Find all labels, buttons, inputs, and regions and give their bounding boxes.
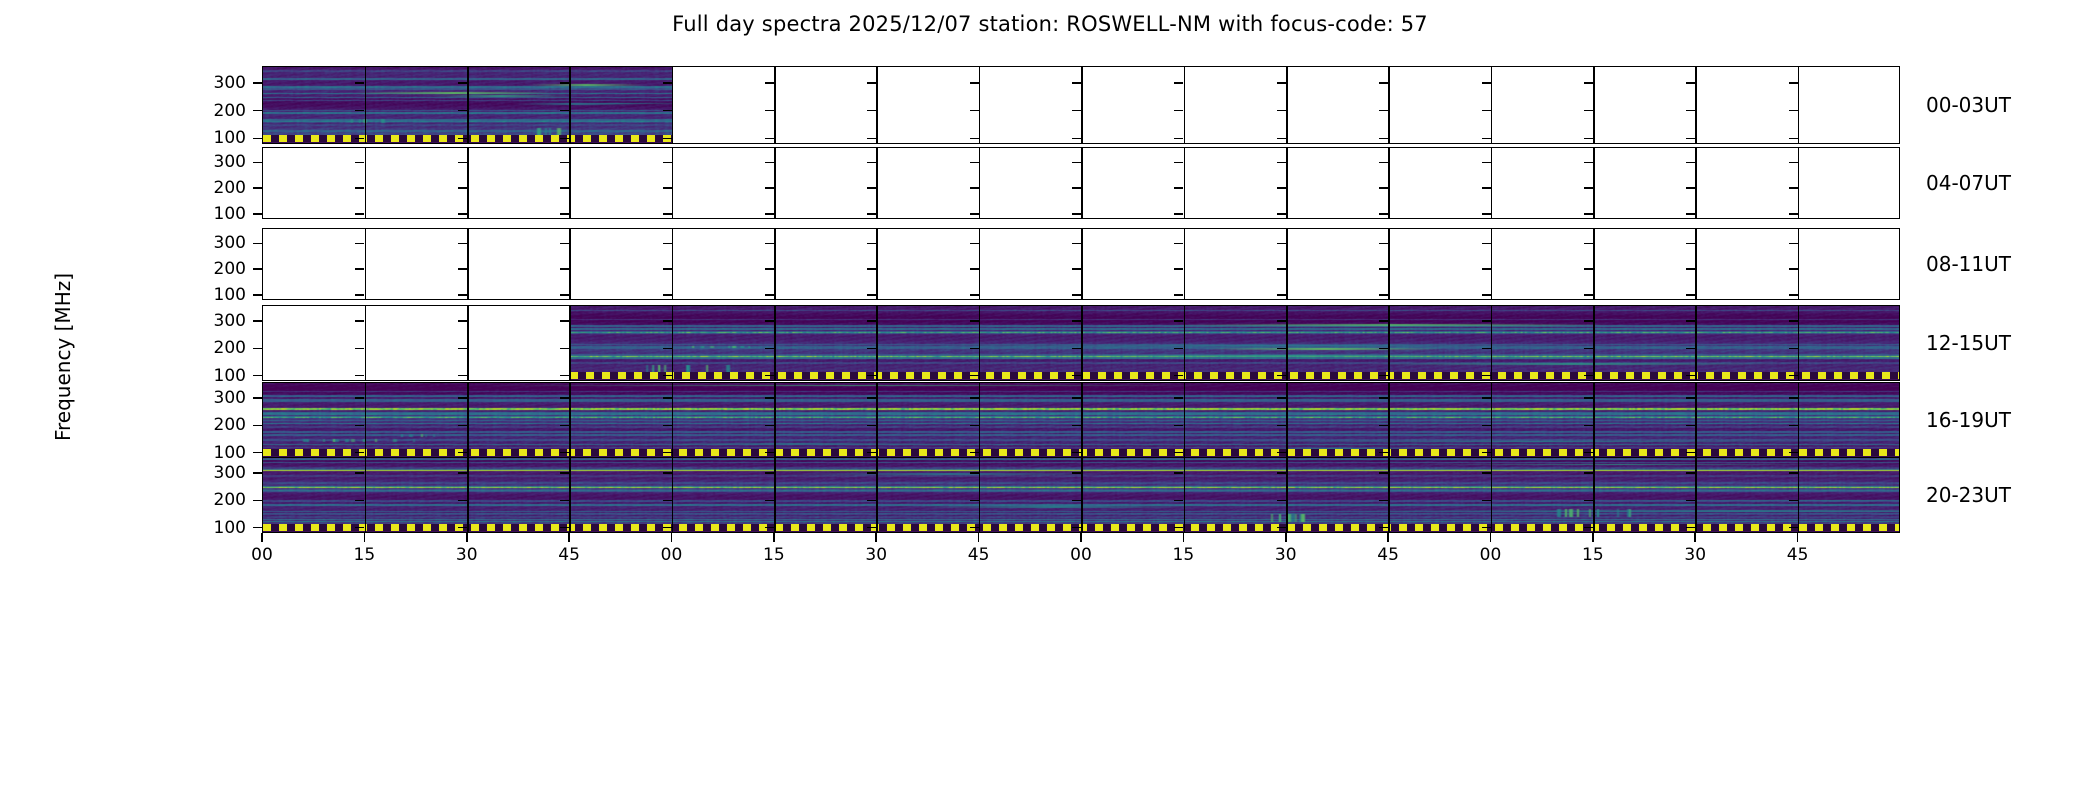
panel-separator [1286, 306, 1288, 380]
spectrogram-image [570, 306, 1900, 379]
y-tick-mark-inner [1174, 527, 1183, 529]
x-tick-mark [978, 533, 980, 542]
y-tick-mark-inner [663, 500, 672, 502]
y-tick-mark [253, 138, 262, 140]
y-tick-mark-inner [1584, 243, 1593, 245]
y-tick-mark-inner [1686, 375, 1695, 377]
y-tick-mark-inner [1789, 138, 1798, 140]
y-tick-mark-inner [1072, 110, 1081, 112]
panel-separator [1286, 148, 1288, 218]
row-time-label: 20-23UT [1926, 483, 2011, 507]
panel-separator [1695, 458, 1697, 532]
y-tick-mark-inner [1789, 472, 1798, 474]
y-tick-mark-inner [867, 375, 876, 377]
panel-separator [1388, 306, 1390, 380]
y-tick-mark [253, 110, 262, 112]
y-tick-mark-inner [560, 527, 569, 529]
y-tick-mark-inner [765, 82, 774, 84]
y-tick-mark-inner [560, 375, 569, 377]
y-tick-mark-inner [663, 472, 672, 474]
panel-separator [774, 148, 776, 218]
y-tick-mark-inner [1277, 138, 1286, 140]
y-tick-mark-inner [1789, 397, 1798, 399]
panel-separator [876, 306, 878, 380]
y-tick-mark-inner [1379, 472, 1388, 474]
y-tick-mark-inner [970, 348, 979, 350]
y-tick-mark-inner [867, 162, 876, 164]
y-tick-mark-inner [1584, 375, 1593, 377]
y-tick-mark-inner [1686, 397, 1695, 399]
y-tick-mark-inner [1379, 500, 1388, 502]
row-time-label: 04-07UT [1926, 171, 2011, 195]
panel-separator [365, 458, 367, 532]
panel-separator [774, 383, 776, 457]
panel-separator [365, 383, 367, 457]
y-tick-mark-inner [1379, 397, 1388, 399]
y-tick-mark-inner [970, 472, 979, 474]
y-tick-mark-inner [1482, 294, 1491, 296]
y-tick-mark-inner [560, 348, 569, 350]
panel-separator [1286, 383, 1288, 457]
x-tick-mark [364, 533, 366, 542]
y-tick-mark-inner [765, 472, 774, 474]
y-tick-mark-inner [1072, 162, 1081, 164]
y-tick-mark-inner [1174, 162, 1183, 164]
y-tick-mark-inner [1277, 375, 1286, 377]
panel-separator [1695, 306, 1697, 380]
y-tick-mark-inner [867, 82, 876, 84]
y-tick-mark-inner [867, 320, 876, 322]
panel-separator [1286, 229, 1288, 299]
panel-separator [1695, 67, 1697, 143]
y-tick-mark-inner [1379, 110, 1388, 112]
panel-separator [365, 229, 367, 299]
y-tick-mark-inner [663, 348, 672, 350]
y-tick-mark-inner [560, 82, 569, 84]
panel-separator [1491, 458, 1493, 532]
y-tick-mark-inner [1482, 348, 1491, 350]
y-tick-mark-inner [663, 110, 672, 112]
y-tick-mark-inner [663, 425, 672, 427]
y-tick-mark-inner [1789, 375, 1798, 377]
y-tick-mark-inner [560, 294, 569, 296]
y-tick-mark-inner [1174, 348, 1183, 350]
y-tick-mark-inner [1277, 243, 1286, 245]
y-tick-mark-inner [1482, 425, 1491, 427]
y-tick-mark-inner [1789, 110, 1798, 112]
y-tick-label: 300 [184, 233, 246, 253]
panel-separator [876, 383, 878, 457]
y-tick-mark-inner [1482, 243, 1491, 245]
y-tick-mark-inner [970, 138, 979, 140]
x-tick-mark [1490, 533, 1492, 542]
y-tick-mark-inner [1789, 294, 1798, 296]
panel-separator [1081, 458, 1083, 532]
y-tick-mark-inner [1584, 162, 1593, 164]
panel-separator [467, 458, 469, 532]
y-tick-mark-inner [458, 213, 467, 215]
y-tick-mark-inner [1584, 213, 1593, 215]
y-tick-mark-inner [1174, 268, 1183, 270]
y-tick-label: 100 [184, 128, 246, 148]
y-tick-mark [253, 243, 262, 245]
y-tick-mark-inner [1174, 82, 1183, 84]
panel-separator [1081, 383, 1083, 457]
panel-separator [569, 458, 571, 532]
panel-separator [1798, 458, 1800, 532]
y-tick-mark-inner [867, 397, 876, 399]
y-tick-mark-inner [1072, 500, 1081, 502]
spectrogram-row-12-15ut[interactable] [262, 305, 1900, 381]
y-tick-label: 100 [184, 443, 246, 463]
y-tick-mark-inner [867, 500, 876, 502]
y-tick-mark-inner [970, 500, 979, 502]
y-tick-label: 300 [184, 311, 246, 331]
y-tick-mark-inner [970, 397, 979, 399]
panel-separator [672, 458, 674, 532]
panel-separator [1081, 229, 1083, 299]
panel-separator [1184, 383, 1186, 457]
y-tick-mark-inner [970, 187, 979, 189]
y-tick-mark-inner [765, 397, 774, 399]
y-tick-mark-inner [663, 138, 672, 140]
y-tick-mark-inner [663, 397, 672, 399]
panel-separator [1388, 67, 1390, 143]
y-tick-mark-inner [560, 110, 569, 112]
y-axis-label: Frequency [MHz] [51, 207, 75, 507]
y-tick-mark-inner [1072, 527, 1081, 529]
x-tick-label: 15 [1563, 545, 1623, 565]
panel-separator [1184, 229, 1186, 299]
y-tick-mark-inner [765, 187, 774, 189]
panel-separator [979, 148, 981, 218]
y-tick-mark-inner [1277, 82, 1286, 84]
y-tick-mark-inner [970, 162, 979, 164]
y-tick-mark-inner [1686, 500, 1695, 502]
y-tick-mark-inner [560, 472, 569, 474]
y-tick-mark-inner [1686, 425, 1695, 427]
y-tick-mark-inner [1379, 294, 1388, 296]
y-tick-mark-inner [1686, 527, 1695, 529]
panel-separator [1593, 229, 1595, 299]
y-tick-mark-inner [765, 348, 774, 350]
y-tick-mark-inner [1789, 82, 1798, 84]
y-tick-mark-inner [1686, 110, 1695, 112]
panel-separator [467, 306, 469, 380]
y-tick-mark-inner [1379, 162, 1388, 164]
figure-canvas: Full day spectra 2025/12/07 station: ROS… [0, 0, 2100, 800]
y-tick-mark-inner [1379, 268, 1388, 270]
y-tick-mark-inner [1379, 348, 1388, 350]
panel-separator [467, 383, 469, 457]
y-tick-mark-inner [1379, 375, 1388, 377]
y-tick-mark-inner [1072, 425, 1081, 427]
y-tick-mark-inner [1789, 452, 1798, 454]
y-tick-mark-inner [1789, 243, 1798, 245]
panel-separator [569, 383, 571, 457]
y-tick-mark-inner [663, 268, 672, 270]
y-tick-mark-inner [867, 348, 876, 350]
y-tick-mark-inner [458, 82, 467, 84]
y-tick-mark-inner [1072, 82, 1081, 84]
y-tick-mark-inner [1072, 294, 1081, 296]
y-tick-mark-inner [560, 187, 569, 189]
spectrogram-row-08-11ut[interactable] [262, 228, 1900, 300]
y-tick-mark-inner [1789, 527, 1798, 529]
y-tick-mark-inner [1277, 397, 1286, 399]
y-tick-label: 300 [184, 463, 246, 483]
y-tick-mark-inner [355, 348, 364, 350]
y-tick-mark-inner [867, 187, 876, 189]
x-tick-label: 00 [1051, 545, 1111, 565]
y-tick-mark-inner [1174, 452, 1183, 454]
spectrogram-row-20-23ut[interactable] [262, 457, 1900, 533]
y-tick-mark-inner [867, 138, 876, 140]
y-tick-mark-inner [1277, 187, 1286, 189]
y-tick-mark-inner [1174, 375, 1183, 377]
y-tick-mark-inner [1482, 397, 1491, 399]
y-tick-mark-inner [970, 110, 979, 112]
y-tick-mark-inner [355, 294, 364, 296]
x-tick-mark [1183, 533, 1185, 542]
panel-separator [1798, 383, 1800, 457]
spectrogram-row-04-07ut[interactable] [262, 147, 1900, 219]
x-tick-mark [1387, 533, 1389, 542]
row-plot-area [263, 229, 1899, 299]
y-tick-label: 200 [184, 101, 246, 121]
x-tick-label: 00 [1461, 545, 1521, 565]
y-tick-mark-inner [765, 138, 774, 140]
y-tick-mark-inner [1584, 527, 1593, 529]
y-tick-mark-inner [1789, 425, 1798, 427]
y-tick-mark-inner [1379, 138, 1388, 140]
panel-separator [672, 306, 674, 380]
panel-separator [979, 306, 981, 380]
y-tick-mark-inner [970, 213, 979, 215]
y-tick-mark-inner [1072, 375, 1081, 377]
y-tick-mark-inner [355, 213, 364, 215]
panel-separator [1184, 306, 1186, 380]
spectrogram-data-block [570, 306, 1900, 380]
panel-separator [1798, 306, 1800, 380]
y-tick-mark-inner [663, 162, 672, 164]
panel-separator [1491, 383, 1493, 457]
y-tick-mark-inner [560, 268, 569, 270]
y-tick-mark-inner [1482, 472, 1491, 474]
y-tick-mark-inner [1584, 82, 1593, 84]
y-tick-mark-inner [355, 110, 364, 112]
y-tick-mark-inner [1072, 243, 1081, 245]
y-tick-mark-inner [663, 375, 672, 377]
panel-separator [467, 229, 469, 299]
y-tick-mark-inner [355, 138, 364, 140]
panel-separator [876, 458, 878, 532]
panel-separator [1388, 148, 1390, 218]
y-tick-mark-inner [1072, 452, 1081, 454]
x-tick-label: 00 [232, 545, 292, 565]
y-tick-mark-inner [458, 472, 467, 474]
y-tick-mark-inner [1686, 348, 1695, 350]
y-tick-mark-inner [663, 187, 672, 189]
x-tick-label: 15 [744, 545, 804, 565]
y-tick-mark-inner [1174, 500, 1183, 502]
y-tick-mark-inner [458, 268, 467, 270]
y-tick-mark-inner [458, 187, 467, 189]
y-tick-mark-inner [970, 294, 979, 296]
y-tick-mark-inner [663, 320, 672, 322]
y-tick-mark-inner [560, 213, 569, 215]
y-tick-mark-inner [1482, 320, 1491, 322]
y-tick-mark-inner [1277, 268, 1286, 270]
y-tick-mark-inner [1379, 243, 1388, 245]
y-tick-mark-inner [867, 452, 876, 454]
y-tick-mark-inner [1482, 187, 1491, 189]
y-tick-mark-inner [1584, 500, 1593, 502]
y-tick-mark-inner [765, 294, 774, 296]
spectrogram-row-00-03ut[interactable] [262, 66, 1900, 144]
y-tick-mark-inner [1277, 320, 1286, 322]
y-tick-mark [253, 320, 262, 322]
panel-separator [1798, 229, 1800, 299]
y-tick-mark-inner [1584, 348, 1593, 350]
y-tick-label: 200 [184, 178, 246, 198]
x-tick-label: 45 [949, 545, 1009, 565]
y-tick-mark-inner [765, 243, 774, 245]
y-tick-mark-inner [355, 162, 364, 164]
y-tick-mark-inner [970, 452, 979, 454]
y-tick-mark-inner [765, 320, 774, 322]
row-plot-area [263, 67, 1899, 143]
x-tick-mark [1694, 533, 1696, 542]
x-tick-mark [773, 533, 775, 542]
y-tick-mark-inner [355, 187, 364, 189]
y-tick-mark-inner [663, 527, 672, 529]
panel-separator [1184, 458, 1186, 532]
y-tick-mark-inner [458, 138, 467, 140]
y-tick-label: 200 [184, 338, 246, 358]
y-tick-label: 100 [184, 285, 246, 305]
y-tick-label: 100 [184, 366, 246, 386]
y-tick-mark-inner [1072, 268, 1081, 270]
y-tick-mark-inner [458, 348, 467, 350]
row-plot-area [263, 383, 1899, 457]
y-tick-mark-inner [458, 375, 467, 377]
panel-separator [1081, 148, 1083, 218]
y-tick-mark-inner [1379, 213, 1388, 215]
y-tick-mark-inner [765, 452, 774, 454]
panel-separator [1184, 67, 1186, 143]
panel-separator [569, 148, 571, 218]
panel-separator [774, 229, 776, 299]
y-tick-mark-inner [1174, 138, 1183, 140]
y-tick-mark-inner [1686, 320, 1695, 322]
x-tick-mark [1080, 533, 1082, 542]
x-tick-mark [1592, 533, 1594, 542]
panel-separator [1593, 306, 1595, 380]
y-tick-mark-inner [1072, 187, 1081, 189]
y-tick-mark-inner [458, 527, 467, 529]
y-tick-mark-inner [560, 320, 569, 322]
y-tick-mark-inner [970, 425, 979, 427]
y-tick-mark-inner [1379, 527, 1388, 529]
y-tick-mark-inner [1789, 348, 1798, 350]
x-tick-mark [1285, 533, 1287, 542]
y-tick-mark-inner [1277, 425, 1286, 427]
panel-separator [467, 67, 469, 143]
y-tick-mark-inner [1789, 500, 1798, 502]
y-tick-mark-inner [458, 452, 467, 454]
x-tick-label: 30 [1665, 545, 1725, 565]
panel-separator [979, 229, 981, 299]
y-tick-mark-inner [1174, 472, 1183, 474]
y-tick-mark-inner [1277, 162, 1286, 164]
y-tick-mark [253, 162, 262, 164]
y-tick-mark-inner [970, 320, 979, 322]
y-tick-mark [253, 397, 262, 399]
row-time-label: 16-19UT [1926, 408, 2011, 432]
x-tick-label: 45 [1768, 545, 1828, 565]
panel-separator [1081, 67, 1083, 143]
y-tick-mark-inner [1072, 348, 1081, 350]
y-tick-mark-inner [1789, 320, 1798, 322]
y-tick-mark-inner [765, 162, 774, 164]
x-tick-label: 45 [1358, 545, 1418, 565]
panel-separator [774, 67, 776, 143]
y-tick-mark-inner [1277, 500, 1286, 502]
y-tick-mark-inner [355, 243, 364, 245]
y-tick-mark-inner [867, 294, 876, 296]
panel-separator [979, 458, 981, 532]
x-tick-label: 00 [642, 545, 702, 565]
y-tick-mark-inner [765, 425, 774, 427]
y-tick-mark-inner [1379, 82, 1388, 84]
y-tick-mark [253, 500, 262, 502]
x-tick-label: 30 [437, 545, 497, 565]
y-tick-mark-inner [1686, 243, 1695, 245]
y-tick-mark [253, 213, 262, 215]
y-tick-mark-inner [1789, 187, 1798, 189]
y-tick-mark-inner [867, 425, 876, 427]
y-tick-mark-inner [663, 213, 672, 215]
y-tick-label: 100 [184, 518, 246, 538]
y-tick-mark-inner [1584, 187, 1593, 189]
y-tick-mark-inner [1277, 213, 1286, 215]
y-tick-mark-inner [355, 397, 364, 399]
y-tick-mark-inner [1174, 397, 1183, 399]
y-tick-mark-inner [1584, 452, 1593, 454]
spectrogram-row-16-19ut[interactable] [262, 382, 1900, 458]
x-tick-label: 15 [1153, 545, 1213, 565]
y-tick-mark [253, 187, 262, 189]
panel-separator [979, 67, 981, 143]
y-tick-mark-inner [1482, 82, 1491, 84]
y-tick-mark-inner [765, 110, 774, 112]
y-tick-mark [253, 268, 262, 270]
panel-separator [774, 458, 776, 532]
panel-separator [1798, 148, 1800, 218]
y-tick-mark [253, 527, 262, 529]
y-tick-mark-inner [1174, 243, 1183, 245]
y-tick-mark-inner [1174, 110, 1183, 112]
y-tick-mark-inner [1584, 425, 1593, 427]
panel-separator [1695, 229, 1697, 299]
y-tick-mark-inner [355, 472, 364, 474]
figure-title: Full day spectra 2025/12/07 station: ROS… [0, 12, 2100, 36]
y-tick-mark-inner [1072, 213, 1081, 215]
y-tick-mark-inner [458, 397, 467, 399]
row-plot-area [263, 458, 1899, 532]
y-tick-mark [253, 425, 262, 427]
